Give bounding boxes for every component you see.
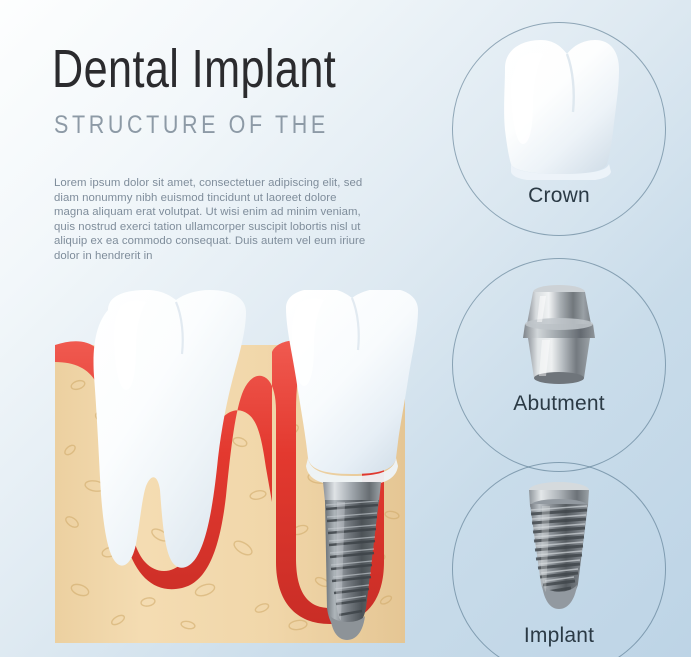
body-paragraph: Lorem ipsum dolor sit amet, consectetuer… (54, 176, 372, 264)
implant-screw-icon (506, 480, 612, 615)
dental-cross-section-diagram (0, 290, 430, 657)
crown-tooth-icon (497, 38, 621, 180)
abutment-label: Abutment (452, 392, 666, 416)
dental-implant-infographic: Dental Implant STRUCTURE OF THE Lorem ip… (0, 0, 691, 657)
crown-label: Crown (452, 184, 666, 208)
implant-label: Implant (452, 624, 666, 648)
page-subtitle: STRUCTURE OF THE (54, 110, 329, 140)
abutment-post-icon (500, 280, 618, 390)
page-title: Dental Implant (52, 41, 336, 97)
